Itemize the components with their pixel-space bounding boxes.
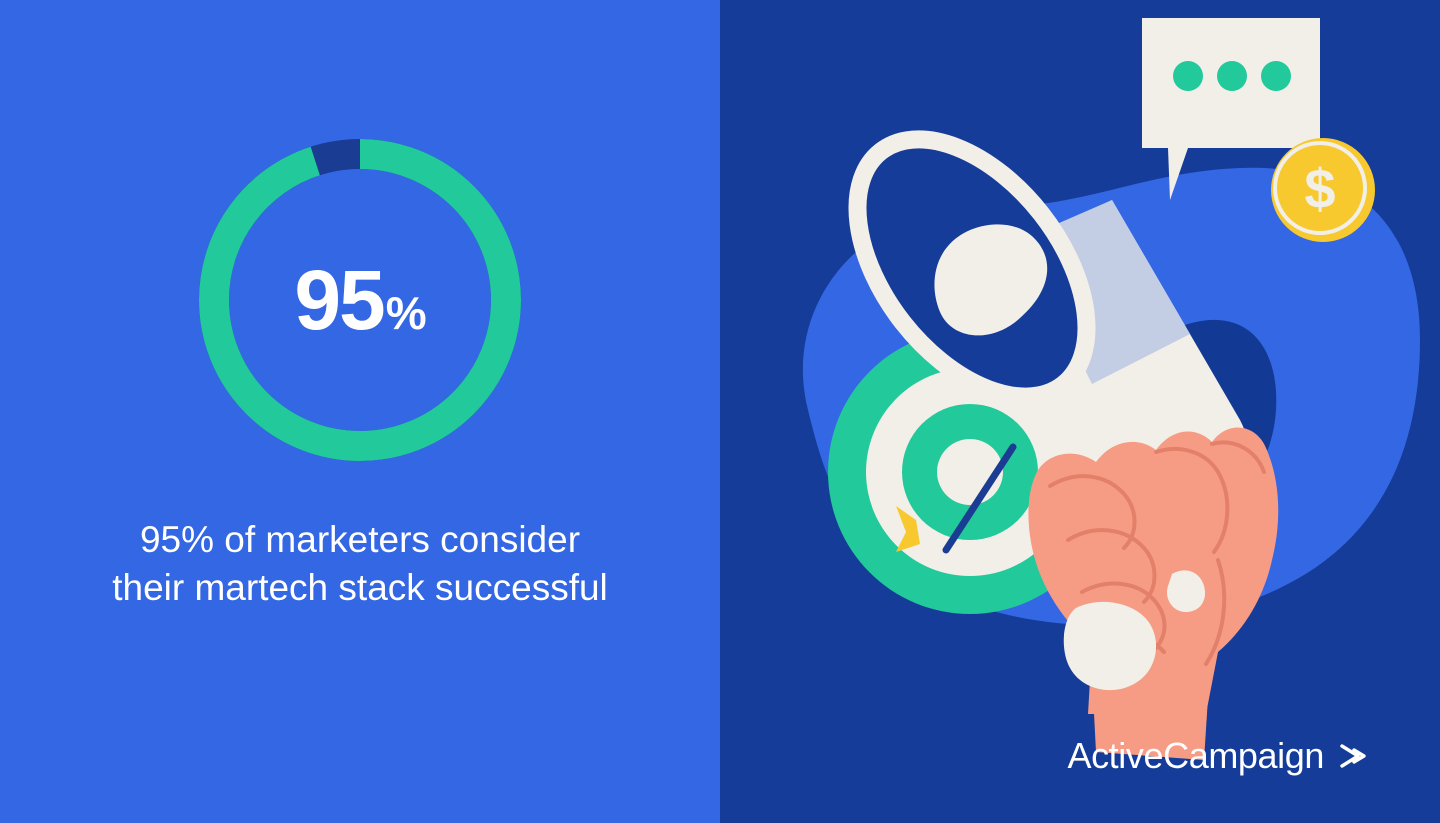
right-panel: $ ActiveCampaign xyxy=(720,0,1440,823)
caption-line-2: their martech stack successful xyxy=(0,564,720,612)
bubble-dot xyxy=(1173,61,1203,91)
infographic-canvas: 95% 95% of marketers consider their mart… xyxy=(0,0,1440,823)
left-panel: 95% 95% of marketers consider their mart… xyxy=(0,0,720,823)
caption: 95% of marketers consider their martech … xyxy=(0,516,720,612)
bubble-dot xyxy=(1261,61,1291,91)
svg-text:$: $ xyxy=(1304,157,1335,220)
dollar-coin-icon: $ xyxy=(1271,138,1375,242)
brand-logo[interactable]: ActiveCampaign xyxy=(1067,735,1368,777)
chevron-right-icon xyxy=(1336,740,1368,772)
illustration: $ xyxy=(720,0,1440,823)
caption-line-1: 95% of marketers consider xyxy=(0,516,720,564)
bubble-dot xyxy=(1217,61,1247,91)
hand-fist xyxy=(1028,428,1278,760)
brand-name: ActiveCampaign xyxy=(1067,735,1324,777)
donut-chart: 95% xyxy=(192,132,528,468)
